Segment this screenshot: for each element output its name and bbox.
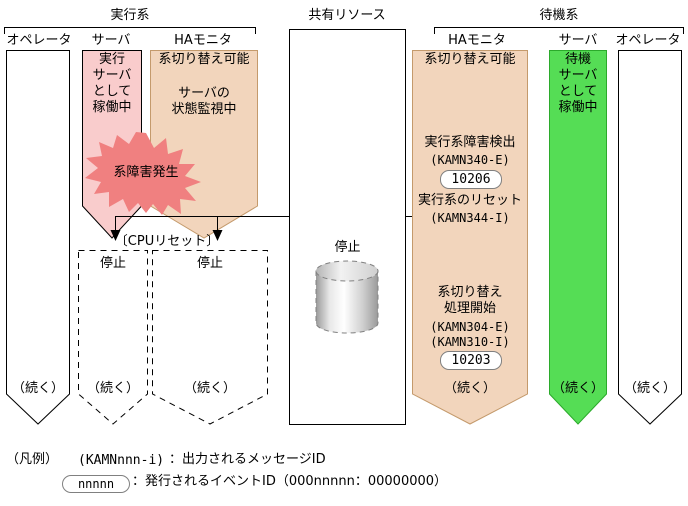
- failure-burst-icon: [82, 131, 210, 215]
- stopped-box-active-hamonitor: [152, 250, 268, 425]
- standby-server-continue: （続く）: [549, 381, 607, 396]
- standby-hamonitor-detect-eventid: 10206: [440, 170, 502, 189]
- stopped-box-active-server: [78, 250, 148, 425]
- standby-operator-continue: （続く）: [618, 381, 682, 396]
- stopped-box-active-hamonitor-continue: （続く）: [152, 381, 268, 396]
- active-hamonitor-line1: 系切り替え可能: [150, 52, 258, 68]
- standby-hamonitor-line1: 系切り替え可能: [412, 52, 528, 68]
- group-title-standby: 待機系: [434, 8, 684, 23]
- lane-active-operator: [6, 50, 70, 425]
- standby-hamonitor-switch-msgid1: (KAMN304-E): [412, 319, 528, 335]
- active-hamonitor-line2: サーバの 状態監視中: [150, 86, 258, 118]
- shared-resource-state-label: 停止: [289, 240, 406, 255]
- legend-msgid-text: ：出力されるメッセージID: [169, 452, 326, 468]
- group-title-shared: 共有リソース: [287, 8, 407, 23]
- standby-hamonitor-switch-title: 系切り替え 処理開始: [412, 285, 528, 317]
- lane-standby-operator: [618, 50, 682, 425]
- standby-hamonitor-reset-title: 実行系のリセット: [408, 193, 532, 209]
- standby-hamonitor-switch-eventid: 10203: [440, 351, 502, 370]
- diagram-canvas: 実行系 共有リソース 待機系 オペレータ サーバ HAモニタ HAモニタ サーバ…: [0, 0, 688, 506]
- legend-title: （凡例）: [6, 452, 58, 468]
- legend-eventid-text: ：発行されるイベントID（000nnnnn：00000000）: [132, 474, 447, 490]
- standby-hamonitor-reset-msgid: (KAMN344-I): [412, 210, 528, 226]
- standby-hamonitor-detect-title: 実行系障害検出: [412, 135, 528, 151]
- group-title-active: 実行系: [4, 8, 256, 23]
- lane-header-standby-operator: オペレータ: [610, 33, 686, 48]
- lane-shared-resource: [289, 29, 406, 425]
- standby-server-status: 待機 サーバ として 稼働中: [549, 52, 607, 116]
- lane-header-active-hamonitor: HAモニタ: [148, 33, 258, 48]
- standby-hamonitor-continue: （続く）: [412, 381, 528, 396]
- database-cylinder-icon: [315, 260, 379, 335]
- cpu-reset-label: 〔CPUリセット〕: [112, 234, 222, 249]
- legend-eventid-capsule: nnnnn: [62, 475, 130, 493]
- stopped-box-active-server-state: 停止: [78, 256, 148, 271]
- lane-header-standby-hamonitor: HAモニタ: [412, 33, 542, 48]
- active-server-status: 実行 サーバ として 稼働中: [82, 52, 142, 116]
- lane-header-active-operator: オペレータ: [2, 33, 76, 48]
- lane-header-active-server: サーバ: [80, 33, 142, 48]
- lane-header-standby-server: サーバ: [547, 33, 609, 48]
- standby-hamonitor-detect-msgid: (KAMN340-E): [412, 152, 528, 168]
- stopped-box-active-hamonitor-state: 停止: [152, 256, 268, 271]
- standby-hamonitor-switch-msgid2: (KAMN310-I): [412, 334, 528, 350]
- legend-msgid-code: (KAMNnnn-i): [78, 453, 164, 469]
- active-operator-continue: （続く）: [6, 381, 70, 396]
- stopped-box-active-server-continue: （続く）: [78, 381, 148, 396]
